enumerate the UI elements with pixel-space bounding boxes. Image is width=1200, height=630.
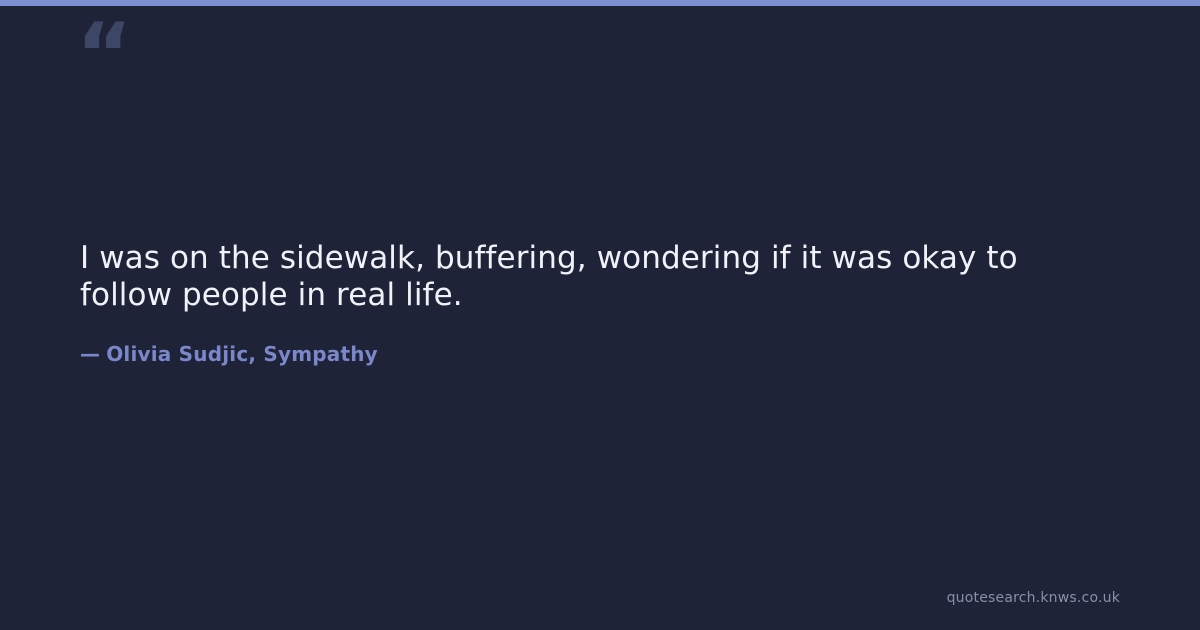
top-accent-bar	[0, 0, 1200, 6]
attribution-author-source: Olivia Sudjic, Sympathy	[106, 342, 378, 366]
open-quote-icon: “	[76, 12, 131, 98]
site-watermark: quotesearch.knws.co.uk	[947, 590, 1120, 606]
quote-card: “ I was on the sidewalk, buffering, wond…	[0, 0, 1200, 630]
quote-content: I was on the sidewalk, buffering, wonder…	[80, 240, 1120, 366]
quote-attribution: —Olivia Sudjic, Sympathy	[80, 314, 1120, 366]
attribution-dash: —	[80, 342, 100, 366]
quote-text: I was on the sidewalk, buffering, wonder…	[80, 240, 1065, 314]
